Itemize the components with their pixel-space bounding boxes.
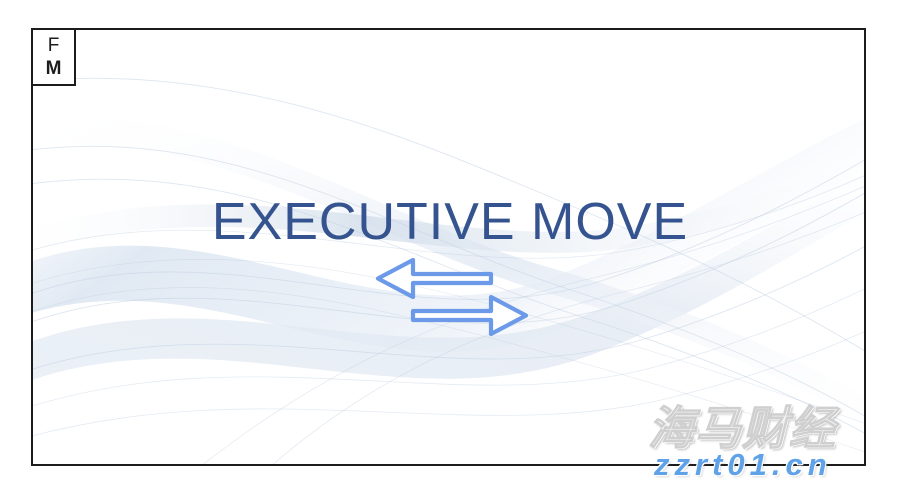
page-title: EXECUTIVE MOVE — [212, 193, 688, 251]
logo-letter-m: M — [46, 59, 62, 78]
frame-border-left — [31, 86, 33, 466]
left-arrow-icon — [378, 260, 491, 297]
headline-block: EXECUTIVE MOVE — [0, 192, 900, 252]
banner-canvas: F M EXECUTIVE MOVE 海马财经 zzrt01.cn — [0, 0, 900, 499]
frame-border-bottom — [31, 464, 866, 466]
right-arrow-icon — [413, 297, 526, 334]
fm-logo: F M — [31, 28, 76, 86]
exchange-arrows-icon — [374, 257, 530, 339]
logo-letter-f: F — [48, 36, 60, 55]
frame-border-top — [76, 28, 866, 30]
